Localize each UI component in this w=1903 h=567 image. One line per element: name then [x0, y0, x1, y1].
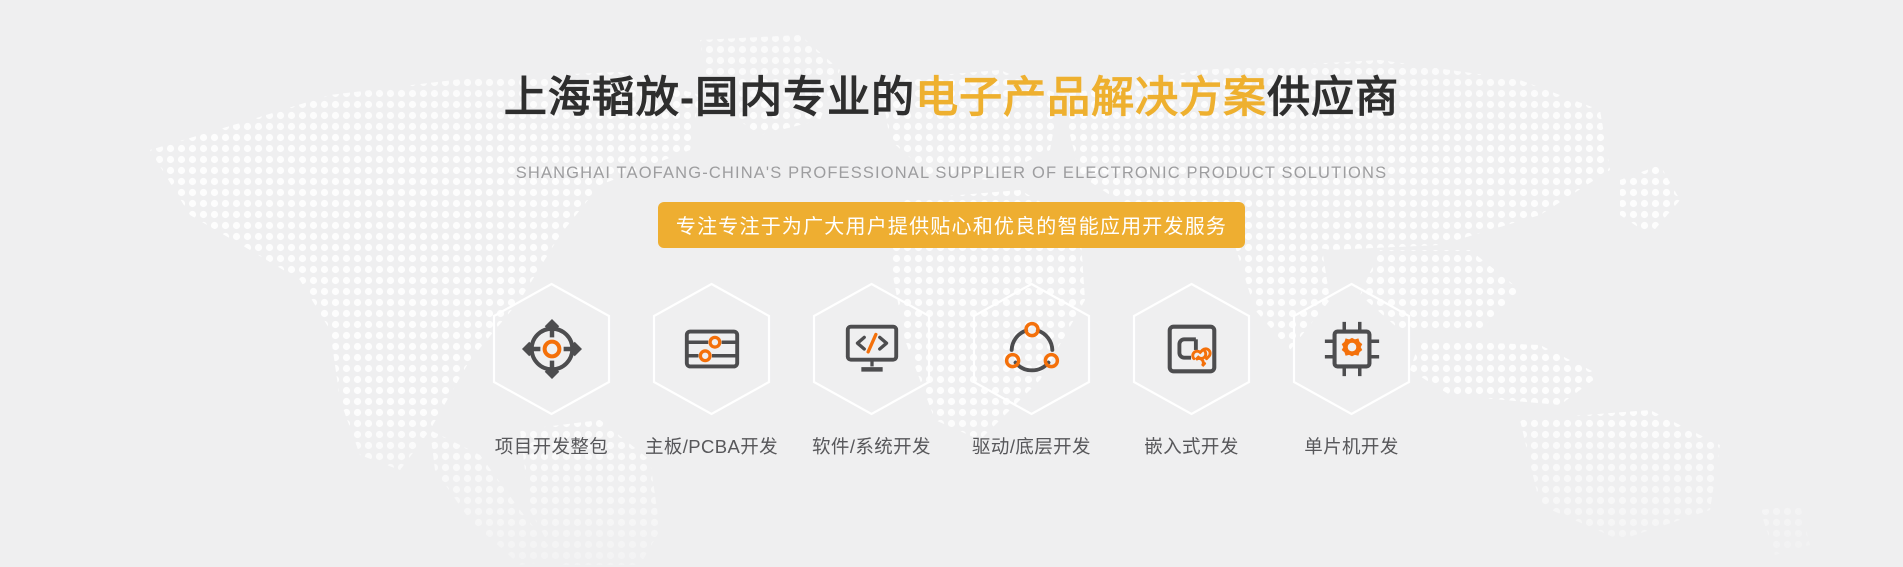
- hero-banner: 上海韬放-国内专业的电子产品解决方案供应商 SHANGHAI TAOFANG-C…: [0, 0, 1903, 567]
- circuit-board-icon: [681, 318, 743, 380]
- service-label: 项目开发整包: [495, 433, 608, 459]
- microcontroller-gear-icon: [1321, 318, 1383, 380]
- code-monitor-icon: [841, 318, 903, 380]
- node-network-icon: [1001, 318, 1063, 380]
- service-item-mcu[interactable]: 单片机开发: [1290, 282, 1413, 459]
- page-subtitle: SHANGHAI TAOFANG-CHINA'S PROFESSIONAL SU…: [516, 164, 1388, 183]
- page-title: 上海韬放-国内专业的电子产品解决方案供应商: [504, 77, 1399, 120]
- service-item-driver-lowlevel[interactable]: 驱动/底层开发: [970, 282, 1093, 459]
- tagline-badge: 专注专注于为广大用户提供贴心和优良的智能应用开发服务: [658, 202, 1245, 248]
- hexagon-frame: [1130, 282, 1253, 416]
- hexagon-frame: [810, 282, 933, 416]
- headline-accent: 电子产品解决方案: [915, 74, 1267, 122]
- service-label: 驱动/底层开发: [972, 433, 1091, 459]
- hexagon-frame: [650, 282, 773, 416]
- service-item-embedded[interactable]: 嵌入式开发: [1130, 282, 1253, 459]
- headline-tail: 供应商: [1267, 74, 1399, 122]
- service-label: 嵌入式开发: [1144, 433, 1239, 459]
- service-label: 单片机开发: [1304, 433, 1399, 459]
- service-hexagon-row: 项目开发整包 主板/PCBA开发: [490, 282, 1413, 459]
- service-item-software-system[interactable]: 软件/系统开发: [810, 282, 933, 459]
- service-item-pcba[interactable]: 主板/PCBA开发: [650, 282, 773, 459]
- hexagon-frame: [490, 282, 613, 416]
- headline-lead: 上海韬放-国内专业的: [504, 74, 915, 122]
- embedded-chip-link-icon: [1161, 318, 1223, 380]
- hexagon-frame: [970, 282, 1093, 416]
- service-label: 软件/系统开发: [812, 433, 931, 459]
- hexagon-frame: [1290, 282, 1413, 416]
- service-label: 主板/PCBA开发: [645, 433, 778, 459]
- service-item-project-package[interactable]: 项目开发整包: [490, 282, 613, 459]
- target-icon: [521, 318, 583, 380]
